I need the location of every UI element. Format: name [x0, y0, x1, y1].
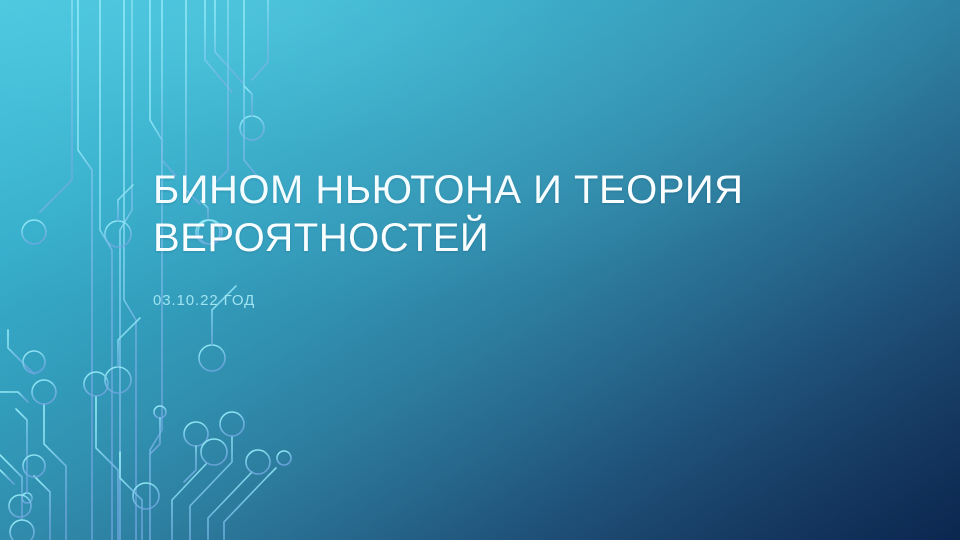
page-title: Бином Ньютона и теория вероятностей	[153, 166, 843, 262]
circuit-board-decoration	[0, 0, 300, 540]
slide-subtitle: 03.10.22 год	[153, 291, 255, 311]
title-text-block: Бином Ньютона и теория вероятностей	[153, 166, 843, 262]
presentation-slide: Бином Ньютона и теория вероятностей 03.1…	[0, 0, 960, 540]
